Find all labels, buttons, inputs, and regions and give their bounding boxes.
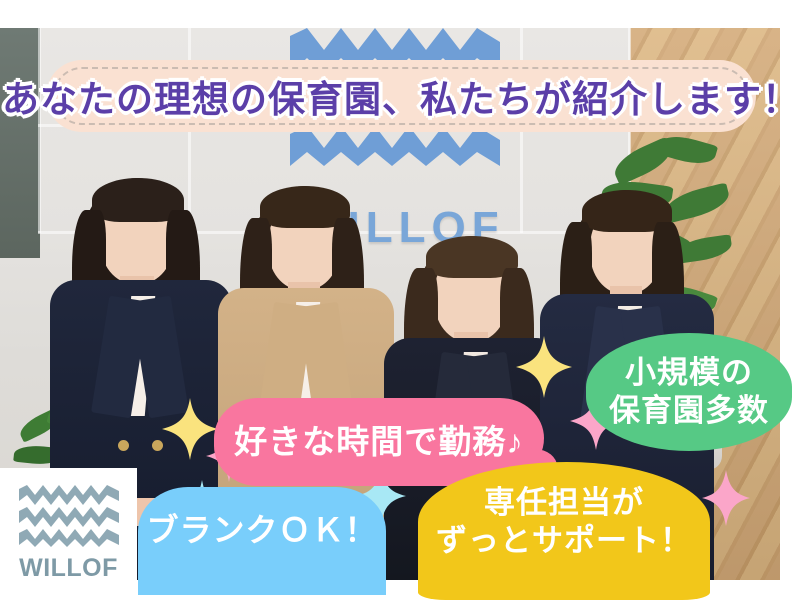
bubble-dedicated-support: 専任担当が ずっとサポート！ [418, 462, 710, 600]
wall-left-edge [0, 28, 40, 258]
bubble-small-nursery: 小規模の 保育園多数 [586, 333, 792, 451]
bubble-green-text: 小規模の 保育園多数 [609, 354, 769, 430]
poster-canvas: WILLOF [0, 0, 800, 600]
headline-banner: あなたの理想の保育園、私たちが紹介します！ [46, 60, 756, 132]
bubble-pink-text: 好きな時間で勤務♪ [234, 422, 524, 462]
bubble-yellow-text: 専任担当が ずっとサポート！ [436, 484, 692, 560]
willof-wordmark: WILLOF [19, 554, 118, 583]
headline-text: あなたの理想の保育園、私たちが紹介します！ [2, 69, 800, 123]
button [118, 440, 129, 451]
sparkle-yellow-mid [516, 336, 572, 398]
bubble-blue-text: ブランクＯＫ！ [146, 511, 377, 550]
wall-seam [38, 28, 41, 233]
bubble-blank-ok: ブランクＯＫ！ [138, 487, 386, 595]
willof-logo-card: WILLOF [0, 468, 137, 600]
willof-wave-icon [19, 485, 119, 547]
